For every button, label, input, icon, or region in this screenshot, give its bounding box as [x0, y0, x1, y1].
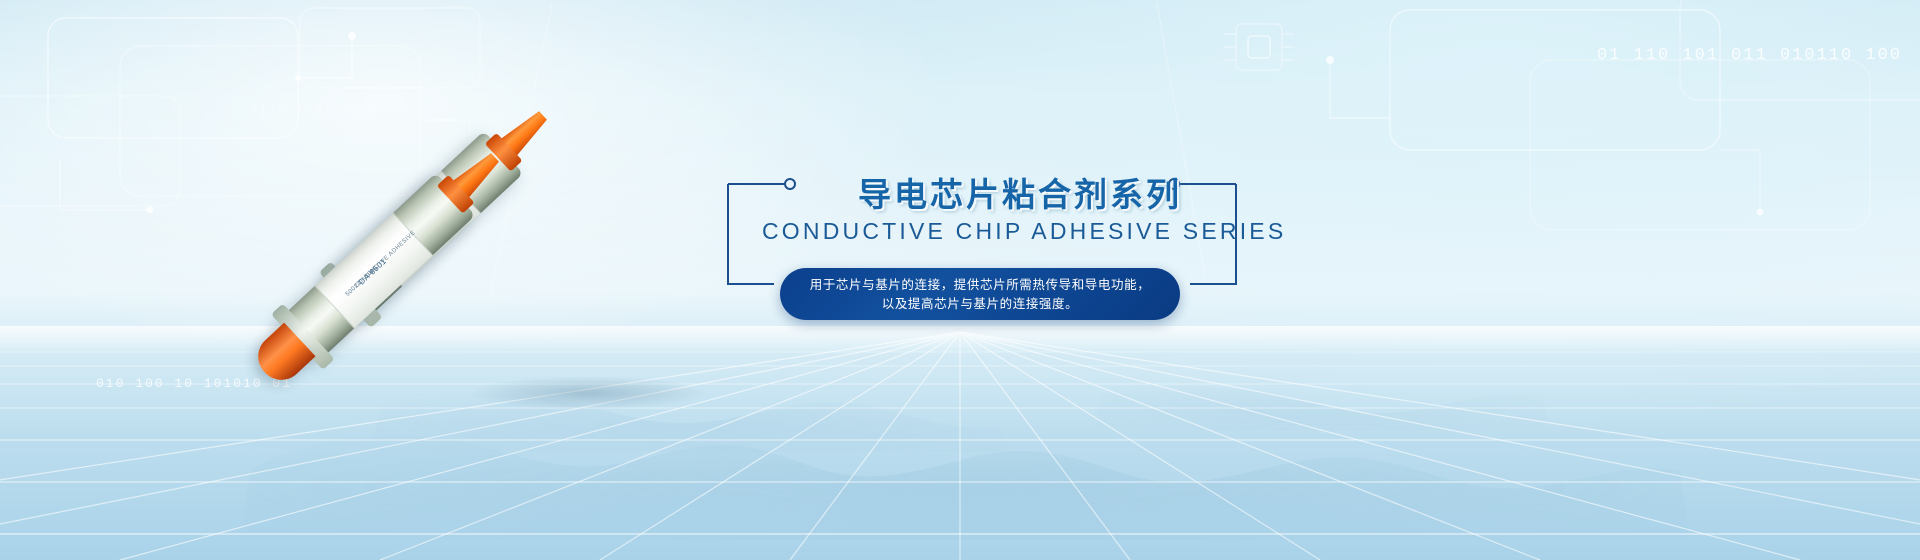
binary-text-top-right: 01 110 101 011 010110 100 — [1597, 46, 1902, 65]
banner-title-cn: 导电芯片粘合剂系列 — [800, 168, 1240, 216]
description-line-1: 用于芯片与基片的连接，提供芯片所需热传导和导电功能， — [810, 275, 1151, 294]
description-line-2: 以及提高芯片与基片的连接强度。 — [882, 294, 1079, 313]
product-label-sub2: CONDUCTIVE ADHESIVE — [343, 220, 428, 299]
product-image-group: DA 6501 50022 · 30ml CONDUCTIVE ADHESIVE… — [318, 108, 668, 408]
binary-text-bottom-left: 010 100 10 101010 01 — [96, 376, 292, 391]
description-box: 用于芯片与基片的连接，提供芯片所需热传导和导电功能， 以及提高芯片与基片的连接强… — [780, 268, 1180, 320]
circuit-rects-right — [1330, 0, 1920, 230]
banner-text-block: 导电芯片粘合剂系列 CONDUCTIVE CHIP ADHESIVE SERIE… — [722, 160, 1242, 320]
product-banner: 01 110 101 011 010110 100 010 100 10 101… — [0, 0, 1920, 560]
world-map-silhouette — [240, 386, 1690, 540]
banner-title-en: CONDUCTIVE CHIP ADHESIVE SERIES — [762, 218, 1240, 245]
product-shadow — [468, 376, 708, 410]
syringe-barrel: DA 6501 50022 · 30ml CONDUCTIVE ADHESIVE — [279, 173, 476, 362]
syringe-front: DA 6501 50022 · 30ml CONDUCTIVE ADHESIVE — [279, 173, 476, 362]
chip-motifs — [1224, 24, 1294, 70]
